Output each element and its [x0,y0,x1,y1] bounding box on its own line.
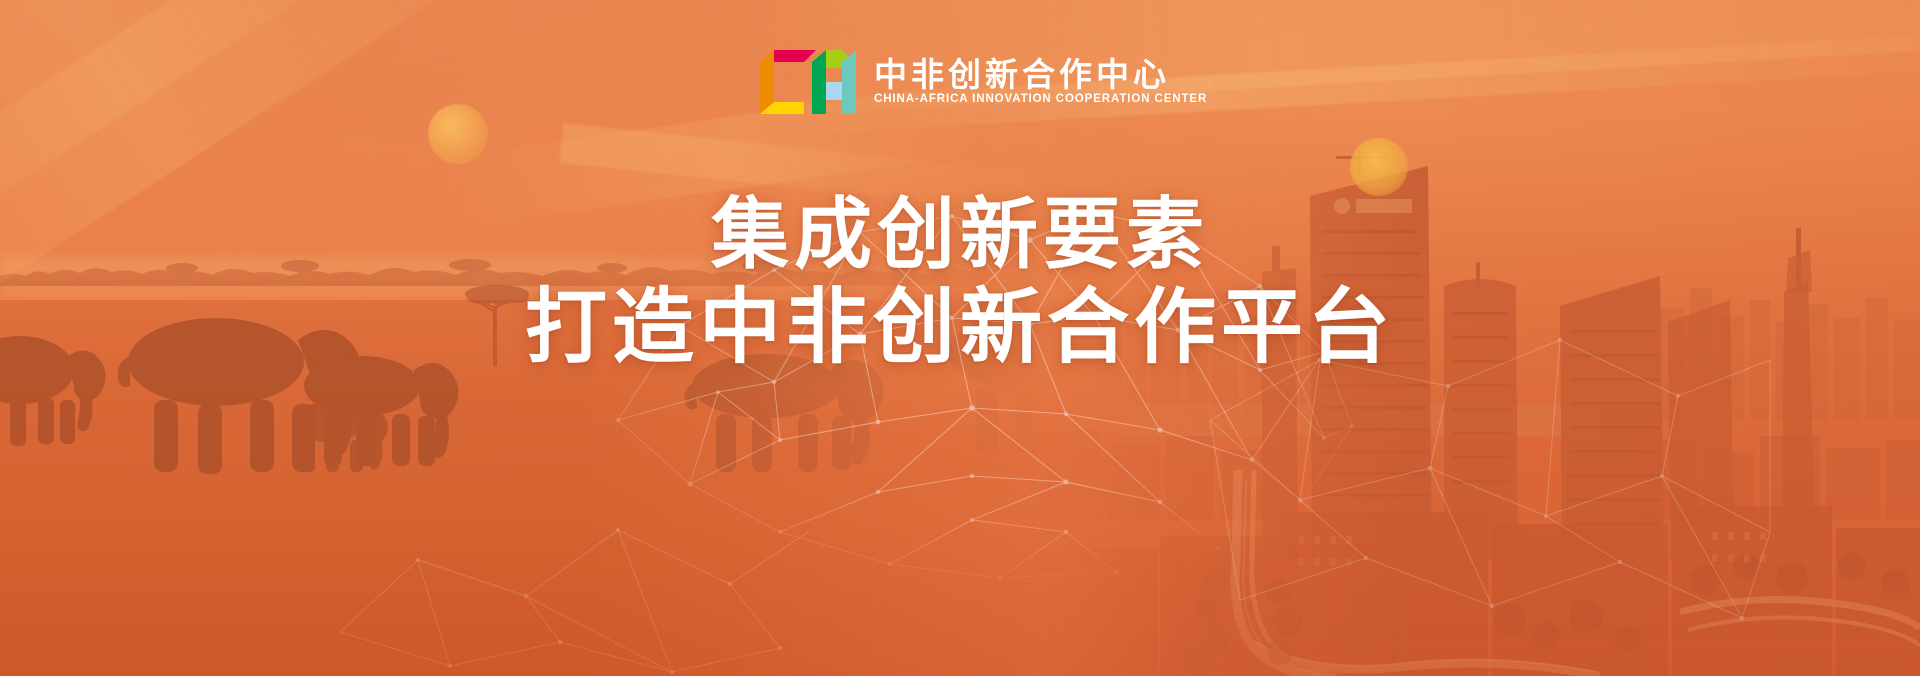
logo-english-name: CHINA-AFRICA INNOVATION COOPERATION CENT… [874,94,1207,106]
logo-chinese-name: 中非创新合作中心 [874,58,1207,91]
hero-headline: 集成创新要素 打造中非创新合作平台 [0,192,1920,373]
headline-line-1: 集成创新要素 [0,192,1920,276]
china-africa-innovation-cooperation-center-logo-icon [760,48,860,116]
site-logo[interactable]: 中非创新合作中心 CHINA-AFRICA INNOVATION COOPERA… [760,48,1207,116]
headline-line-2: 打造中非创新合作平台 [0,284,1920,373]
logo-text-block: 中非创新合作中心 CHINA-AFRICA INNOVATION COOPERA… [874,58,1207,106]
hero-banner: 中非创新合作中心 CHINA-AFRICA INNOVATION COOPERA… [0,0,1920,676]
